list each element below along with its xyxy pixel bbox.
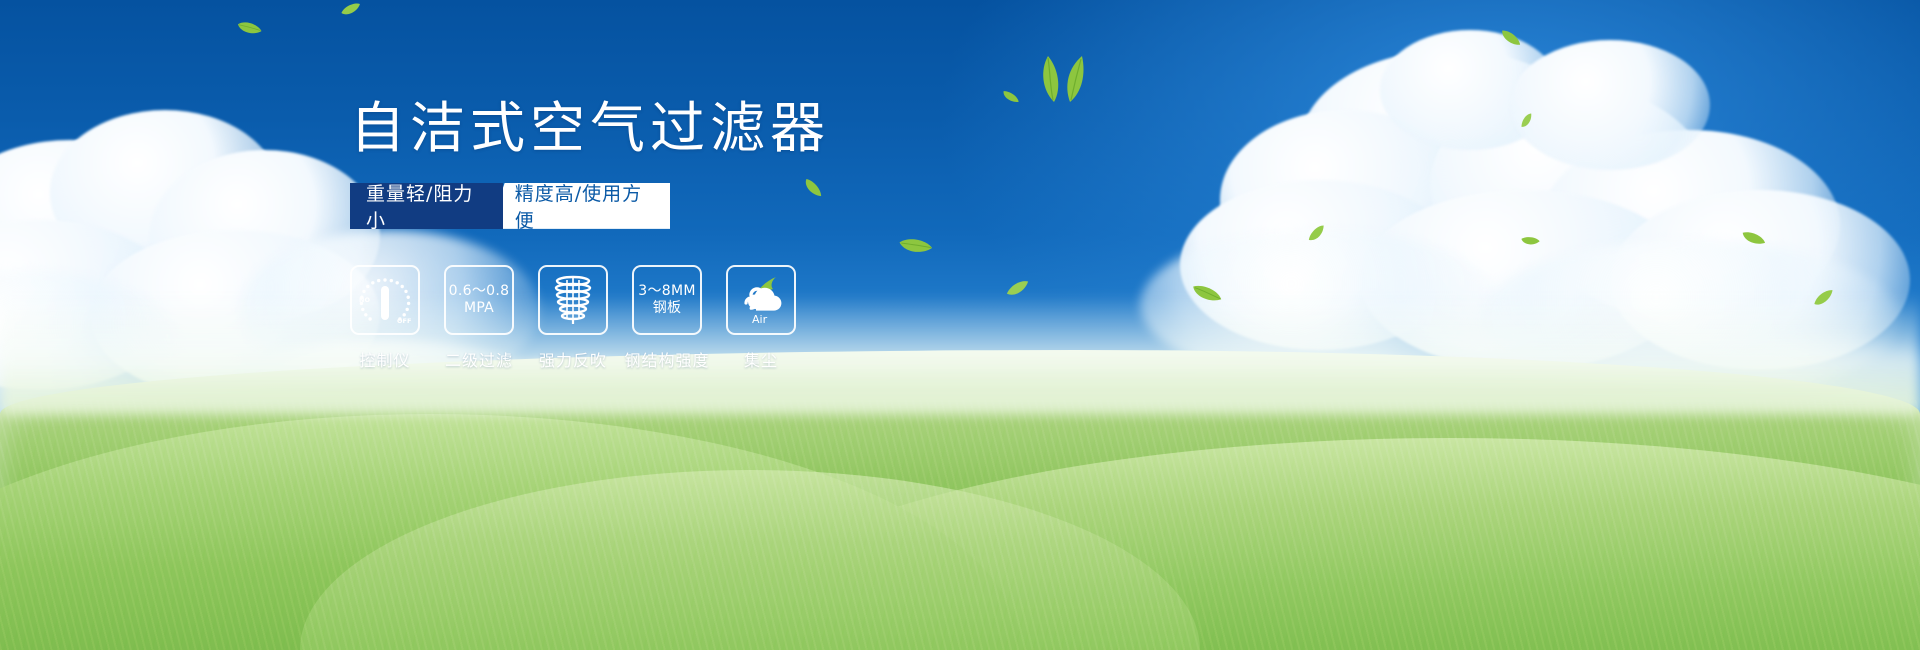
dial-off-label: OFF <box>397 317 411 325</box>
banner-content: 自洁式空气过滤器 重量轻/阻力小 精度高/使用方便 <box>350 96 1110 371</box>
steel-plate-text-icon: 3〜8MM 钢板 <box>638 283 695 317</box>
feature-label: 二级过滤 <box>445 347 513 371</box>
feature-label: 强力反吹 <box>539 347 607 371</box>
grass-texture <box>0 400 1920 650</box>
filter-cartridge-icon <box>550 274 596 326</box>
feature-item-controller[interactable]: NO OFF 控制仪 <box>350 265 420 371</box>
title-leaf-pair-icon <box>1034 54 1090 108</box>
icon-box: 0.6〜0.8 MPA <box>444 265 514 335</box>
feature-label: 控制仪 <box>359 347 410 371</box>
feature-item-backblow[interactable]: 强力反吹 <box>538 265 608 371</box>
power-dial-icon: NO OFF <box>357 274 413 326</box>
subtitle-bar: 重量轻/阻力小 精度高/使用方便 <box>350 183 670 229</box>
icon-box: 3〜8MM 钢板 <box>632 265 702 335</box>
feature-item-dust[interactable]: Air 集尘 <box>726 265 796 371</box>
subtitle-right: 精度高/使用方便 <box>489 183 670 229</box>
feature-item-steel[interactable]: 3〜8MM 钢板 钢结构强度 <box>632 265 702 371</box>
page-title: 自洁式空气过滤器 <box>350 96 1110 161</box>
feature-icon-row: NO OFF 控制仪 0.6〜0.8 MPA 二级过滤 <box>350 265 1110 371</box>
icon-box <box>538 265 608 335</box>
dial-on-label: NO <box>359 296 370 304</box>
air-cloud-icon: Air <box>732 273 790 327</box>
feature-item-pressure[interactable]: 0.6〜0.8 MPA 二级过滤 <box>444 265 514 371</box>
product-banner: 自洁式空气过滤器 重量轻/阻力小 精度高/使用方便 <box>0 0 1920 650</box>
title-wrap: 自洁式空气过滤器 <box>350 96 1110 161</box>
feature-label: 集尘 <box>744 347 778 371</box>
subtitle-left: 重量轻/阻力小 <box>350 183 503 229</box>
feature-label: 钢结构强度 <box>625 347 710 371</box>
air-label: Air <box>752 313 768 326</box>
pressure-text-icon: 0.6〜0.8 MPA <box>449 283 510 317</box>
icon-box: NO OFF <box>350 265 420 335</box>
icon-box: Air <box>726 265 796 335</box>
